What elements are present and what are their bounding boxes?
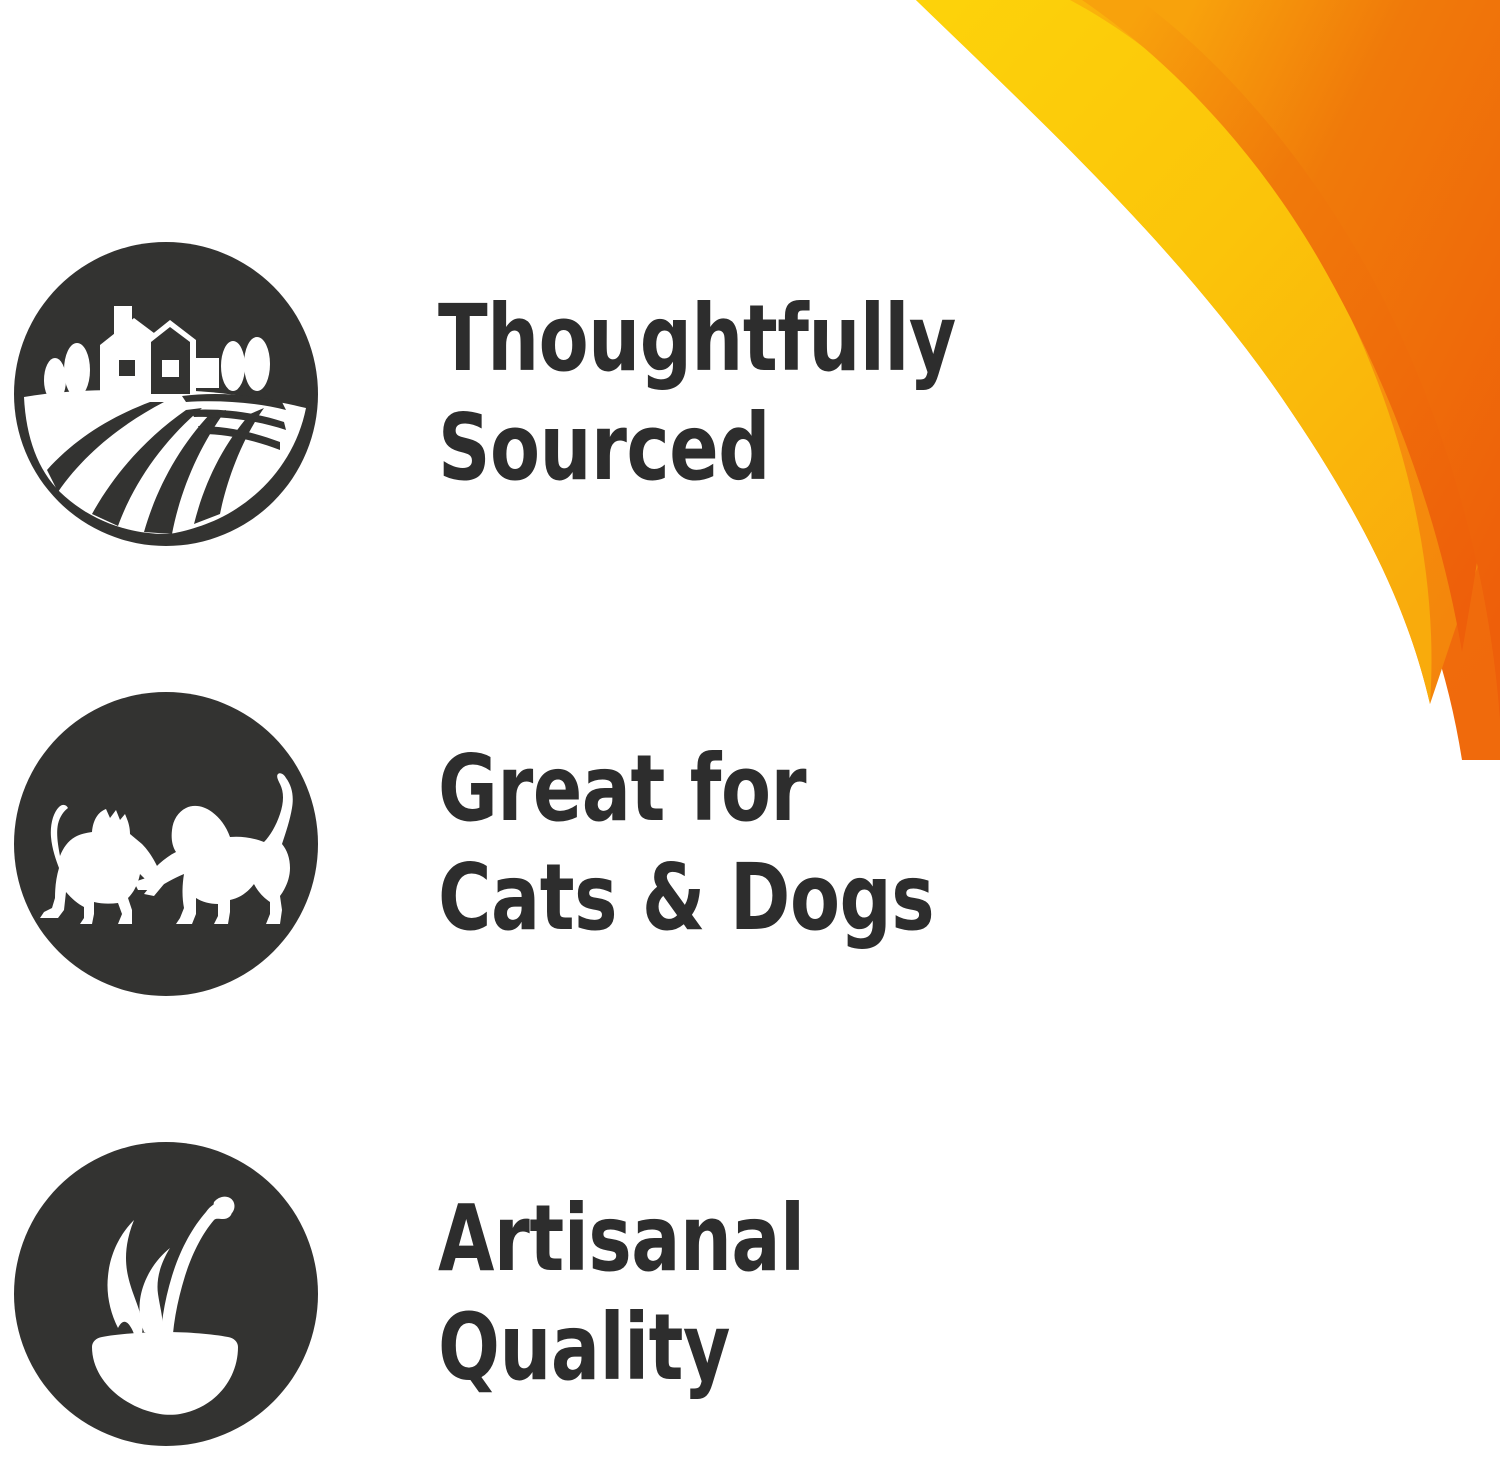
feature-row: Great for Cats & Dogs (0, 692, 1100, 996)
badge-great-for-cats-and-dogs (14, 692, 318, 996)
feature-label: Artisanal Quality (438, 1185, 1021, 1402)
badge-thoughtfully-sourced (14, 242, 318, 546)
product-feature-panel: Thoughtfully Sourced Great for Cats & Do… (0, 0, 1500, 1464)
feature-label: Great for Cats & Dogs (438, 735, 1021, 952)
feature-row: Thoughtfully Sourced (0, 242, 1100, 546)
cat-and-dog-icon (14, 692, 318, 996)
feature-row: Artisanal Quality (0, 1142, 1100, 1446)
swoosh-corner-field (1140, 0, 1500, 720)
swoosh-band-deep (1082, 0, 1500, 652)
feature-label: Thoughtfully Sourced (438, 285, 1021, 502)
farm-field-icon (14, 242, 318, 546)
soup-ladle-icon (14, 1142, 318, 1446)
badge-artisanal-quality (14, 1142, 318, 1446)
